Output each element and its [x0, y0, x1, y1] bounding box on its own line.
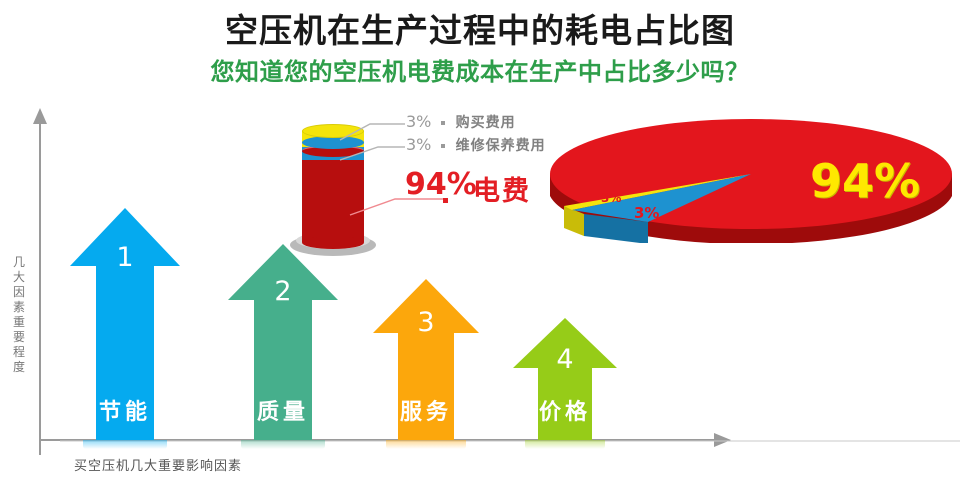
infographic-canvas: 空压机在生产过程中的耗电占比图 您知道您的空压机电费成本在生产中占比多少吗？ 几… — [0, 0, 960, 483]
callout-maintenance-label: 维修保养费用 — [456, 138, 546, 154]
pie-label-blue: 3% — [634, 204, 659, 222]
pie-label-main: 94% — [810, 154, 920, 208]
callout-maintenance-cost: 3% 维修保养费用 — [406, 135, 546, 155]
callout-maintenance-dot — [441, 144, 445, 148]
callout-electricity-percent: 94% — [405, 167, 477, 202]
callout-purchase-cost: 3% 购买费用 — [406, 112, 516, 132]
callout-purchase-dot — [441, 121, 445, 125]
pie-chart-3d[interactable]: 3% 3% 94% — [548, 118, 954, 243]
callout-purchase-label: 购买费用 — [456, 115, 516, 131]
callout-maintenance-percent: 3% — [406, 135, 431, 154]
pie-label-yellow: 3% — [601, 191, 621, 205]
callout-purchase-percent: 3% — [406, 112, 431, 131]
callout-electricity-label: 电费 — [473, 169, 531, 208]
